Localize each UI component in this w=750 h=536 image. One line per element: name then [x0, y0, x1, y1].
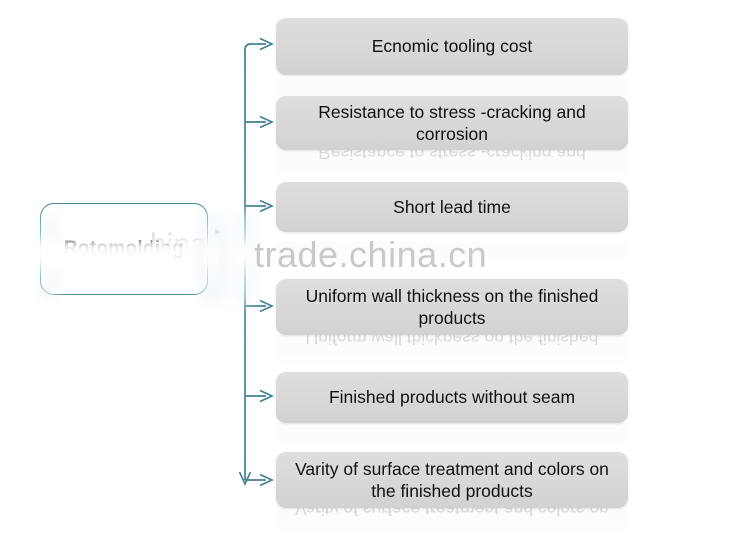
- branch-box-short-lead-time[interactable]: Short lead time: [276, 182, 628, 232]
- branch-label: Ecnomic tooling cost: [372, 35, 533, 57]
- diagram-canvas: Ecnomic tooling cost Resistance to stres…: [0, 0, 750, 536]
- root-node-rotomolding[interactable]: Rotomolding: [40, 203, 208, 295]
- branch-box-finished-products-without-seam[interactable]: Finished products without seam: [276, 372, 628, 423]
- branch-label: Varity of surface treatment and colors o…: [292, 458, 612, 503]
- branch-box-variety-of-surface-treatment[interactable]: Varity of surface treatment and colors o…: [276, 452, 628, 508]
- branch-label: Resistance to stress -cracking and corro…: [292, 101, 612, 146]
- branch-label: Short lead time: [393, 196, 511, 218]
- branch-box-resistance-to-stress-cracking[interactable]: Resistance to stress -cracking and corro…: [276, 96, 628, 150]
- connector-spine: [245, 44, 251, 480]
- branch-label: Finished products without seam: [329, 386, 575, 408]
- branch-label: Uniform wall thickness on the finished p…: [292, 285, 612, 330]
- branch-box-economic-tooling-cost[interactable]: Ecnomic tooling cost: [276, 18, 628, 75]
- branch-box-uniform-wall-thickness[interactable]: Uniform wall thickness on the finished p…: [276, 279, 628, 335]
- root-node-label: Rotomolding: [64, 238, 184, 260]
